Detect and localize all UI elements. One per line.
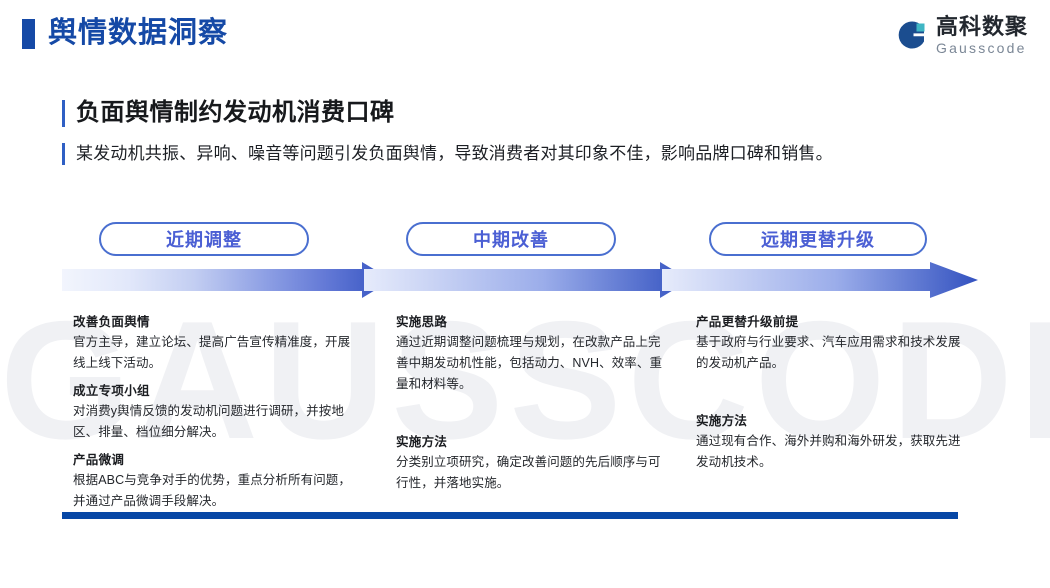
content-block: 实施方法 通过现有合作、海外并购和海外研发，获取先进发动机技术。 — [696, 411, 968, 473]
column-near-term: 改善负面舆情 官方主导，建立论坛、提高广告宣传精准度，开展线上线下活动。 成立专… — [73, 312, 353, 512]
brand-logo: 高科数聚 Gausscode — [894, 12, 1028, 58]
stage-pill-long-term[interactable]: 远期更替升级 — [709, 222, 927, 256]
block-title: 产品微调 — [73, 450, 353, 470]
column-mid-term: 实施思路 通过近期调整问题梳理与规划，在改款产品上完善中期发动机性能，包括动力、… — [396, 312, 668, 494]
header-accent-marker — [22, 19, 35, 49]
headline-subtitle: 某发动机共振、异响、噪音等问题引发负面舆情，导致消费者对其印象不佳，影响品牌口碑… — [62, 140, 982, 168]
block-body: 对消费y舆情反馈的发动机问题进行调研，并按地区、排量、档位细分解决。 — [73, 401, 353, 443]
headline-title: 负面舆情制约发动机消费口碑 — [62, 96, 982, 130]
block-title: 改善负面舆情 — [73, 312, 353, 332]
block-title: 实施思路 — [396, 312, 668, 332]
headline-block: 负面舆情制约发动机消费口碑 某发动机共振、异响、噪音等问题引发负面舆情，导致消费… — [62, 96, 982, 168]
brand-name-cn: 高科数聚 — [936, 16, 1028, 38]
content-block: 实施方法 分类别立项研究，确定改善问题的先后顺序与可行性，并落地实施。 — [396, 432, 668, 494]
page-title: 舆情数据洞察 — [48, 13, 228, 53]
column-spacer — [696, 381, 968, 411]
bottom-accent-bar — [62, 512, 958, 519]
block-body: 基于政府与行业要求、汽车应用需求和技术发展的发动机产品。 — [696, 332, 968, 374]
block-body: 官方主导，建立论坛、提高广告宣传精准度，开展线上线下活动。 — [73, 332, 353, 374]
block-title: 产品更替升级前提 — [696, 312, 968, 332]
brand-logo-text: 高科数聚 Gausscode — [936, 16, 1028, 55]
timeline-arrow — [62, 262, 978, 298]
block-body: 通过现有合作、海外并购和海外研发，获取先进发动机技术。 — [696, 431, 968, 473]
content-block: 实施思路 通过近期调整问题梳理与规划，在改款产品上完善中期发动机性能，包括动力、… — [396, 312, 668, 395]
stage-pill-near-term[interactable]: 近期调整 — [99, 222, 309, 256]
stage-pill-mid-term[interactable]: 中期改善 — [406, 222, 616, 256]
gausscode-logo-icon — [894, 18, 928, 52]
block-title: 实施方法 — [396, 432, 668, 452]
content-block: 改善负面舆情 官方主导，建立论坛、提高广告宣传精准度，开展线上线下活动。 — [73, 312, 353, 374]
column-long-term: 产品更替升级前提 基于政府与行业要求、汽车应用需求和技术发展的发动机产品。 实施… — [696, 312, 968, 473]
stage-pill-row: 近期调整 中期改善 远期更替升级 — [0, 222, 1050, 258]
content-block: 成立专项小组 对消费y舆情反馈的发动机问题进行调研，并按地区、排量、档位细分解决… — [73, 381, 353, 443]
block-body: 分类别立项研究，确定改善问题的先后顺序与可行性，并落地实施。 — [396, 452, 668, 494]
content-block: 产品更替升级前提 基于政府与行业要求、汽车应用需求和技术发展的发动机产品。 — [696, 312, 968, 374]
column-spacer — [396, 402, 668, 432]
content-block: 产品微调 根据ABC与竞争对手的优势，重点分析所有问题，并通过产品微调手段解决。 — [73, 450, 353, 512]
slide-root: GAUSSCODE 舆情数据洞察 高科数聚 Gausscode 负面舆情制约发动… — [0, 0, 1050, 588]
block-body: 通过近期调整问题梳理与规划，在改款产品上完善中期发动机性能，包括动力、NVH、效… — [396, 332, 668, 395]
block-body: 根据ABC与竞争对手的优势，重点分析所有问题，并通过产品微调手段解决。 — [73, 470, 353, 512]
block-title: 成立专项小组 — [73, 381, 353, 401]
brand-name-en: Gausscode — [936, 41, 1028, 55]
block-title: 实施方法 — [696, 411, 968, 431]
slide-header: 舆情数据洞察 高科数聚 Gausscode — [0, 0, 1050, 72]
